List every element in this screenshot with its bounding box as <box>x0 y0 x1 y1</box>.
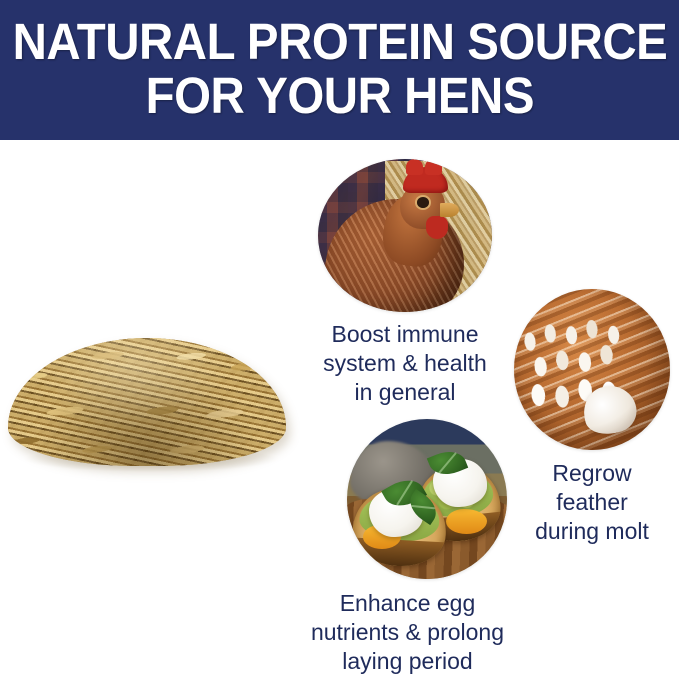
header-banner: NATURAL PROTEIN SOURCE FOR YOUR HENS <box>0 0 679 140</box>
hen-comb <box>403 167 448 193</box>
egg-background <box>347 419 507 579</box>
mealworm-pile-image <box>8 318 286 466</box>
feather-vignette <box>514 289 670 450</box>
hen-photo <box>318 159 492 312</box>
feather-photo <box>514 289 670 450</box>
feature-caption-regrow-feather: Regrow feather during molt <box>512 459 672 546</box>
hen-wattle <box>426 216 449 239</box>
page-title-line-1: NATURAL PROTEIN SOURCE <box>12 15 667 69</box>
pile-shading <box>8 338 286 466</box>
feature-enhance-egg: Enhance egg nutrients & prolong laying p… <box>290 419 525 674</box>
hen-background <box>318 159 492 312</box>
feature-regrow-feather: Regrow feather during molt <box>512 289 672 546</box>
page-title-line-2: FOR YOUR HENS <box>145 69 533 123</box>
pile-shape <box>8 338 286 466</box>
infographic-poster: NATURAL PROTEIN SOURCE FOR YOUR HENS <box>0 0 679 674</box>
feather-background <box>514 289 670 450</box>
feature-caption-enhance-egg: Enhance egg nutrients & prolong laying p… <box>290 589 525 674</box>
feature-caption-boost-immune: Boost immune system & health in general <box>300 320 510 407</box>
egg-toast-photo <box>347 419 507 579</box>
feature-boost-immune: Boost immune system & health in general <box>300 159 510 407</box>
